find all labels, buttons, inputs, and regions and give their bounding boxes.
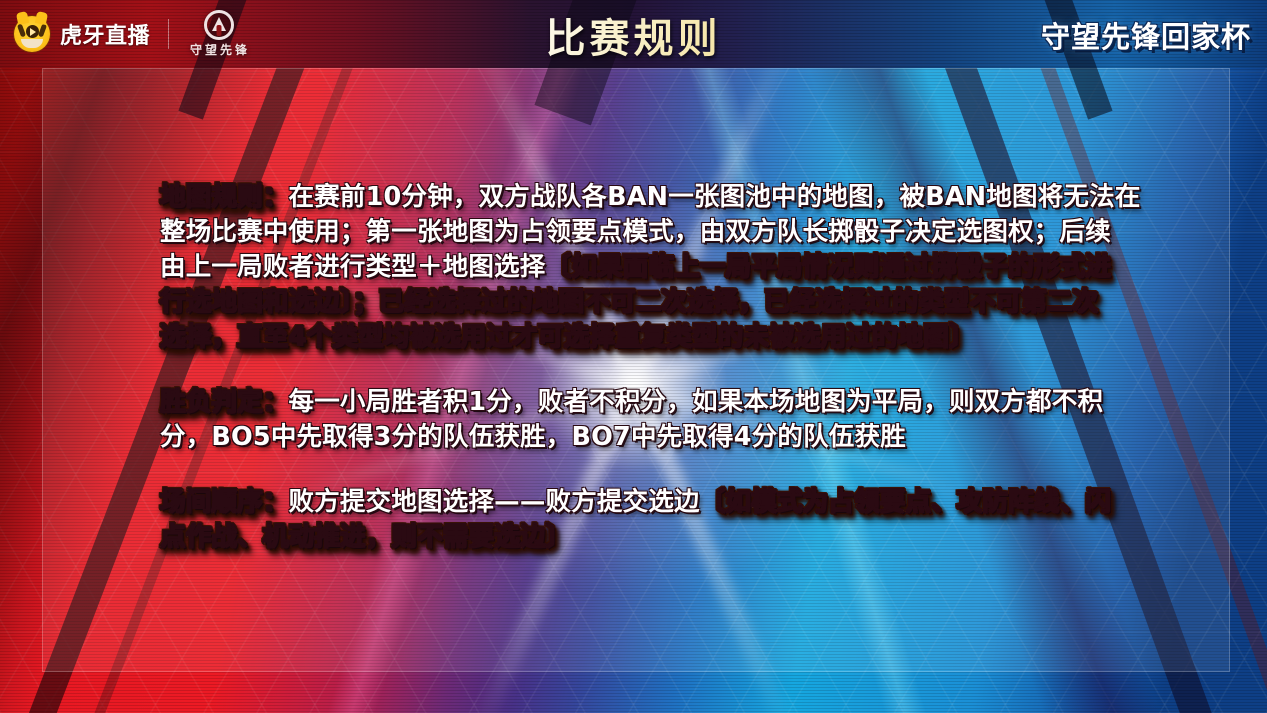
rule-text-gold: 点作战、机动推进，则不需要选边〕 [160,522,571,552]
rules-body: 地图规则：在赛前10分钟，双方战队各BAN一张图池中的地图，被BAN地图将无法在… [160,180,1145,555]
rule-text-gold: 地图规则： [160,182,289,212]
rule-text-gold: 〔如模式为占领要点、攻防阵线、闪 [700,487,1111,517]
rule-line: 选择，直至4个类型均被选用过才可选择重复类型的未被选用过的地图〕 [160,320,1145,355]
rule-paragraph-order-rules: 场间顺序：败方提交地图选择——败方提交选边〔如模式为占领要点、攻防阵线、闪点作战… [160,485,1145,555]
rule-text-gold: 场间顺序： [160,487,289,517]
rule-text-gold: 胜负判定： [160,387,289,417]
rule-text-gold: 行选地图和选边〕；已经选择过的地图不可二次选择，已经选择过的类型不可第二次 [160,287,1098,317]
rule-text-white: 整场比赛中使用；第一张地图为占领要点模式，由双方队长掷骰子决定选图权；后续 [160,217,1111,247]
rule-line: 胜负判定：每一小局胜者积1分，败者不积分，如果本场地图为平局，则双方都不积 [160,385,1145,420]
rule-paragraph-scoring-rules: 胜负判定：每一小局胜者积1分，败者不积分，如果本场地图为平局，则双方都不积分，B… [160,385,1145,455]
rule-line: 点作战、机动推进，则不需要选边〕 [160,520,1145,555]
rule-line: 整场比赛中使用；第一张地图为占领要点模式，由双方队长掷骰子决定选图权；后续 [160,215,1145,250]
rule-text-white: 败方提交地图选择——败方提交选边 [289,487,700,517]
rule-paragraph-map-rules: 地图规则：在赛前10分钟，双方战队各BAN一张图池中的地图，被BAN地图将无法在… [160,180,1145,355]
rule-text-gold: 〔如果面临上一局平局情况则通过掷骰子的形式进 [546,252,1111,282]
rule-line: 行选地图和选边〕；已经选择过的地图不可二次选择，已经选择过的类型不可第二次 [160,285,1145,320]
rule-text-gold: 选择，直至4个类型均被选用过才可选择重复类型的未被选用过的地图〕 [160,322,975,352]
rule-text-white: 每一小局胜者积1分，败者不积分，如果本场地图为平局，则双方都不积 [289,387,1104,417]
rule-line: 地图规则：在赛前10分钟，双方战队各BAN一张图池中的地图，被BAN地图将无法在 [160,180,1145,215]
rule-text-white: 由上一局败者进行类型＋地图选择 [160,252,546,282]
rule-line: 由上一局败者进行类型＋地图选择〔如果面临上一局平局情况则通过掷骰子的形式进 [160,250,1145,285]
broadcast-rules-slide: 地图规则：在赛前10分钟，双方战队各BAN一张图池中的地图，被BAN地图将无法在… [0,0,1267,713]
tournament-title: 守望先锋回家杯 [1041,14,1251,56]
header-bar: 虎牙直播 守望先锋 比赛规则 守望先锋回家杯 [0,0,1267,68]
rule-text-white: 分，BO5中先取得3分的队伍获胜，BO7中先取得4分的队伍获胜 [160,422,906,452]
rule-line: 分，BO5中先取得3分的队伍获胜，BO7中先取得4分的队伍获胜 [160,420,1145,455]
rule-line: 场间顺序：败方提交地图选择——败方提交选边〔如模式为占领要点、攻防阵线、闪 [160,485,1145,520]
rule-text-white: 在赛前10分钟，双方战队各BAN一张图池中的地图，被BAN地图将无法在 [289,182,1141,212]
